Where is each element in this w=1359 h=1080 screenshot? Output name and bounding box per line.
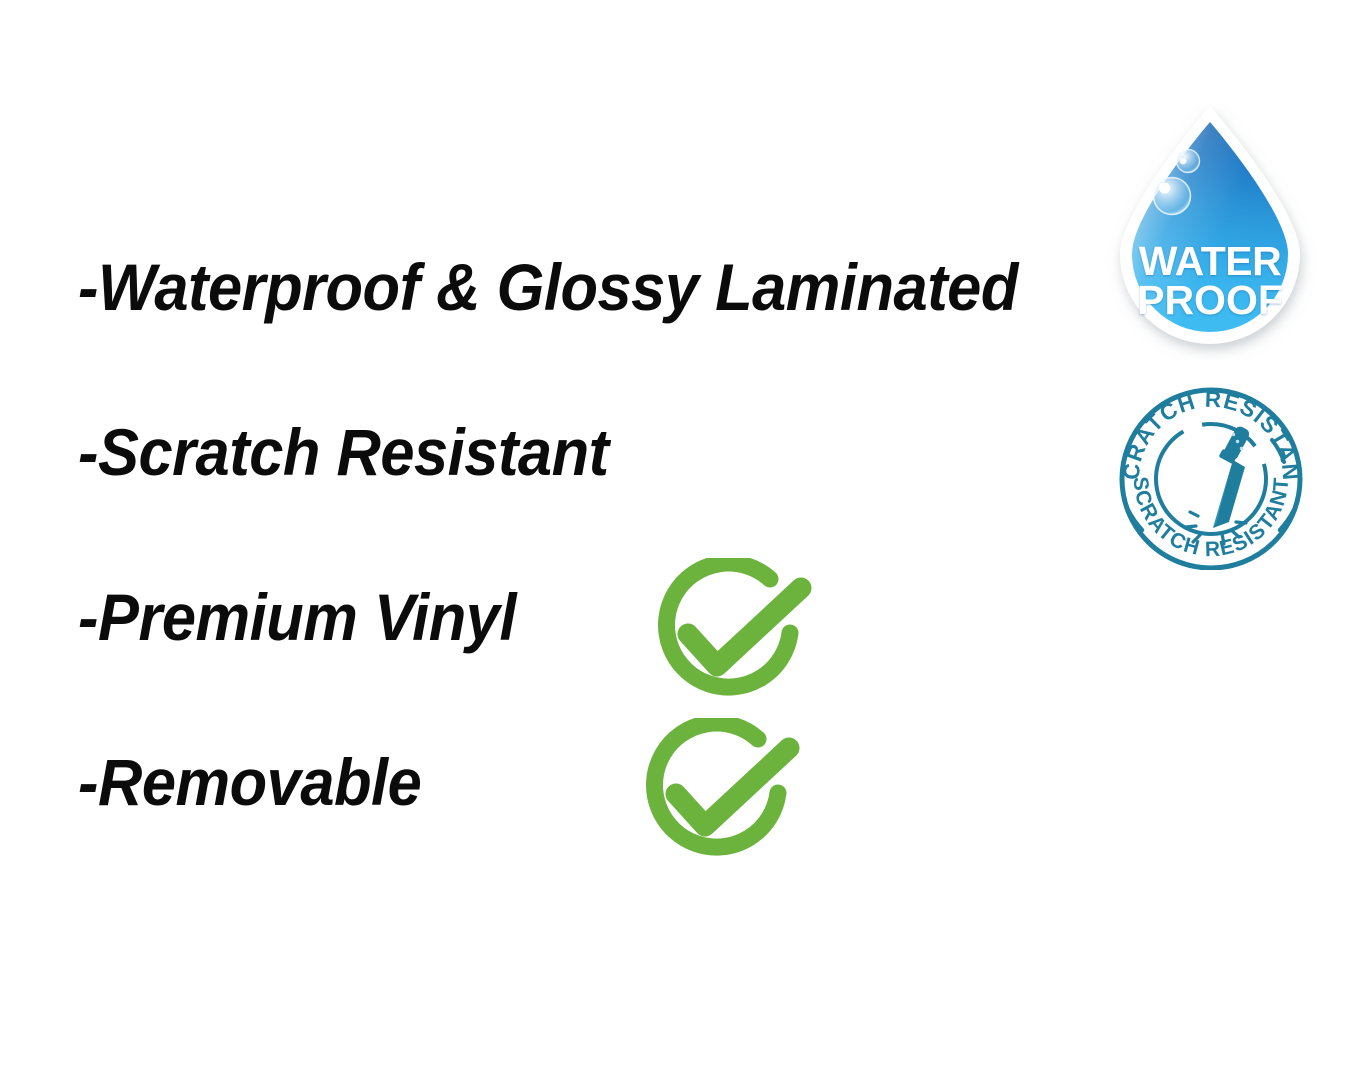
check-circle-icon [640,558,840,708]
water-bubble-large-icon [1154,178,1191,215]
checkmark-removable [628,718,828,868]
feature-label-waterproof: -Waterproof & Glossy Laminated [78,252,1018,322]
feature-item-removable: -Removable [78,747,1118,912]
knife-stamp-icon: SCRATCH RESISTANT SCRATCH RESISTANT [1112,382,1310,570]
check-circle-icon [628,718,828,868]
feature-item-waterproof: -Waterproof & Glossy Laminated [78,252,1118,417]
feature-label-removable: -Removable [78,747,421,817]
feature-label-scratch-resistant: -Scratch Resistant [78,417,609,487]
water-drop-icon [1104,104,1316,360]
stamp-text-top: SCRATCH RESISTANT [1112,382,1303,482]
feature-item-scratch-resistant: -Scratch Resistant [78,417,1118,582]
waterproof-badge: WATER PROOF [1104,104,1316,360]
feature-item-premium-vinyl: -Premium Vinyl [78,582,1118,747]
checkmark-premium-vinyl [640,558,840,708]
stamp-inner-ring [1156,424,1266,534]
feature-label-premium-vinyl: -Premium Vinyl [78,582,516,652]
water-bubble-large-highlight [1159,182,1170,193]
poster-canvas: -Waterproof & Glossy Laminated -Scratch … [0,0,1359,1080]
knife-icon [1213,425,1251,528]
feature-list: -Waterproof & Glossy Laminated -Scratch … [78,252,1118,912]
scratch-resistant-badge: SCRATCH RESISTANT SCRATCH RESISTANT [1112,382,1310,570]
water-drop-sheen [1132,122,1288,332]
water-bubble-small-highlight [1180,158,1187,165]
